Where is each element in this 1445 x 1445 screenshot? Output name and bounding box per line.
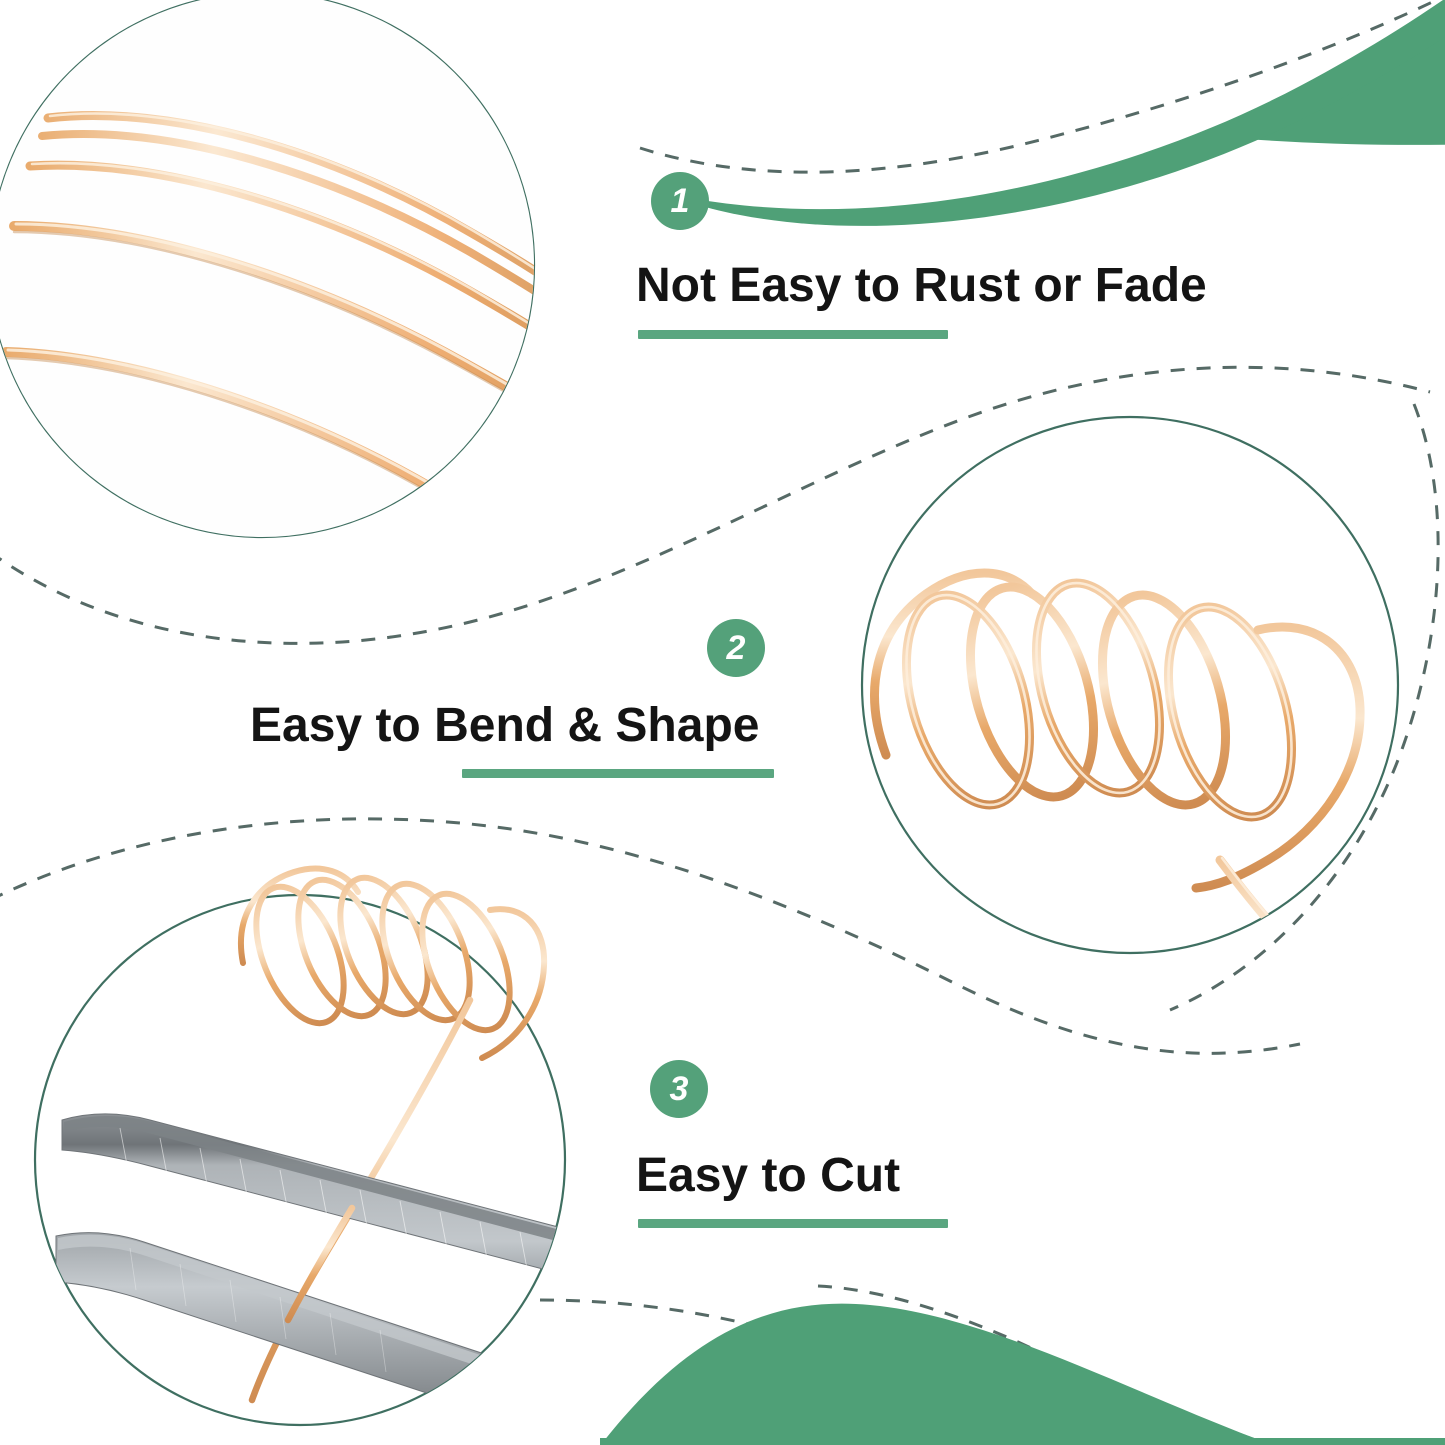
feature-title-2: Easy to Bend & Shape	[250, 698, 759, 753]
product-details-infographic: PRODUCT DETAILS 1 Not Easy to Rust or Fa…	[0, 0, 1445, 1445]
feature-underline-2	[462, 769, 774, 778]
feature-number-badge-1: 1	[651, 172, 709, 230]
feature-title-3: Easy to Cut	[636, 1148, 900, 1203]
feature-underline-3	[638, 1219, 948, 1228]
page-title: PRODUCT DETAILS	[600, 8, 1300, 79]
feature-title-1: Not Easy to Rust or Fade	[636, 258, 1207, 313]
feature-number-badge-3: 3	[650, 1060, 708, 1118]
feature-number-badge-2: 2	[707, 619, 765, 677]
feature-underline-1	[638, 330, 948, 339]
